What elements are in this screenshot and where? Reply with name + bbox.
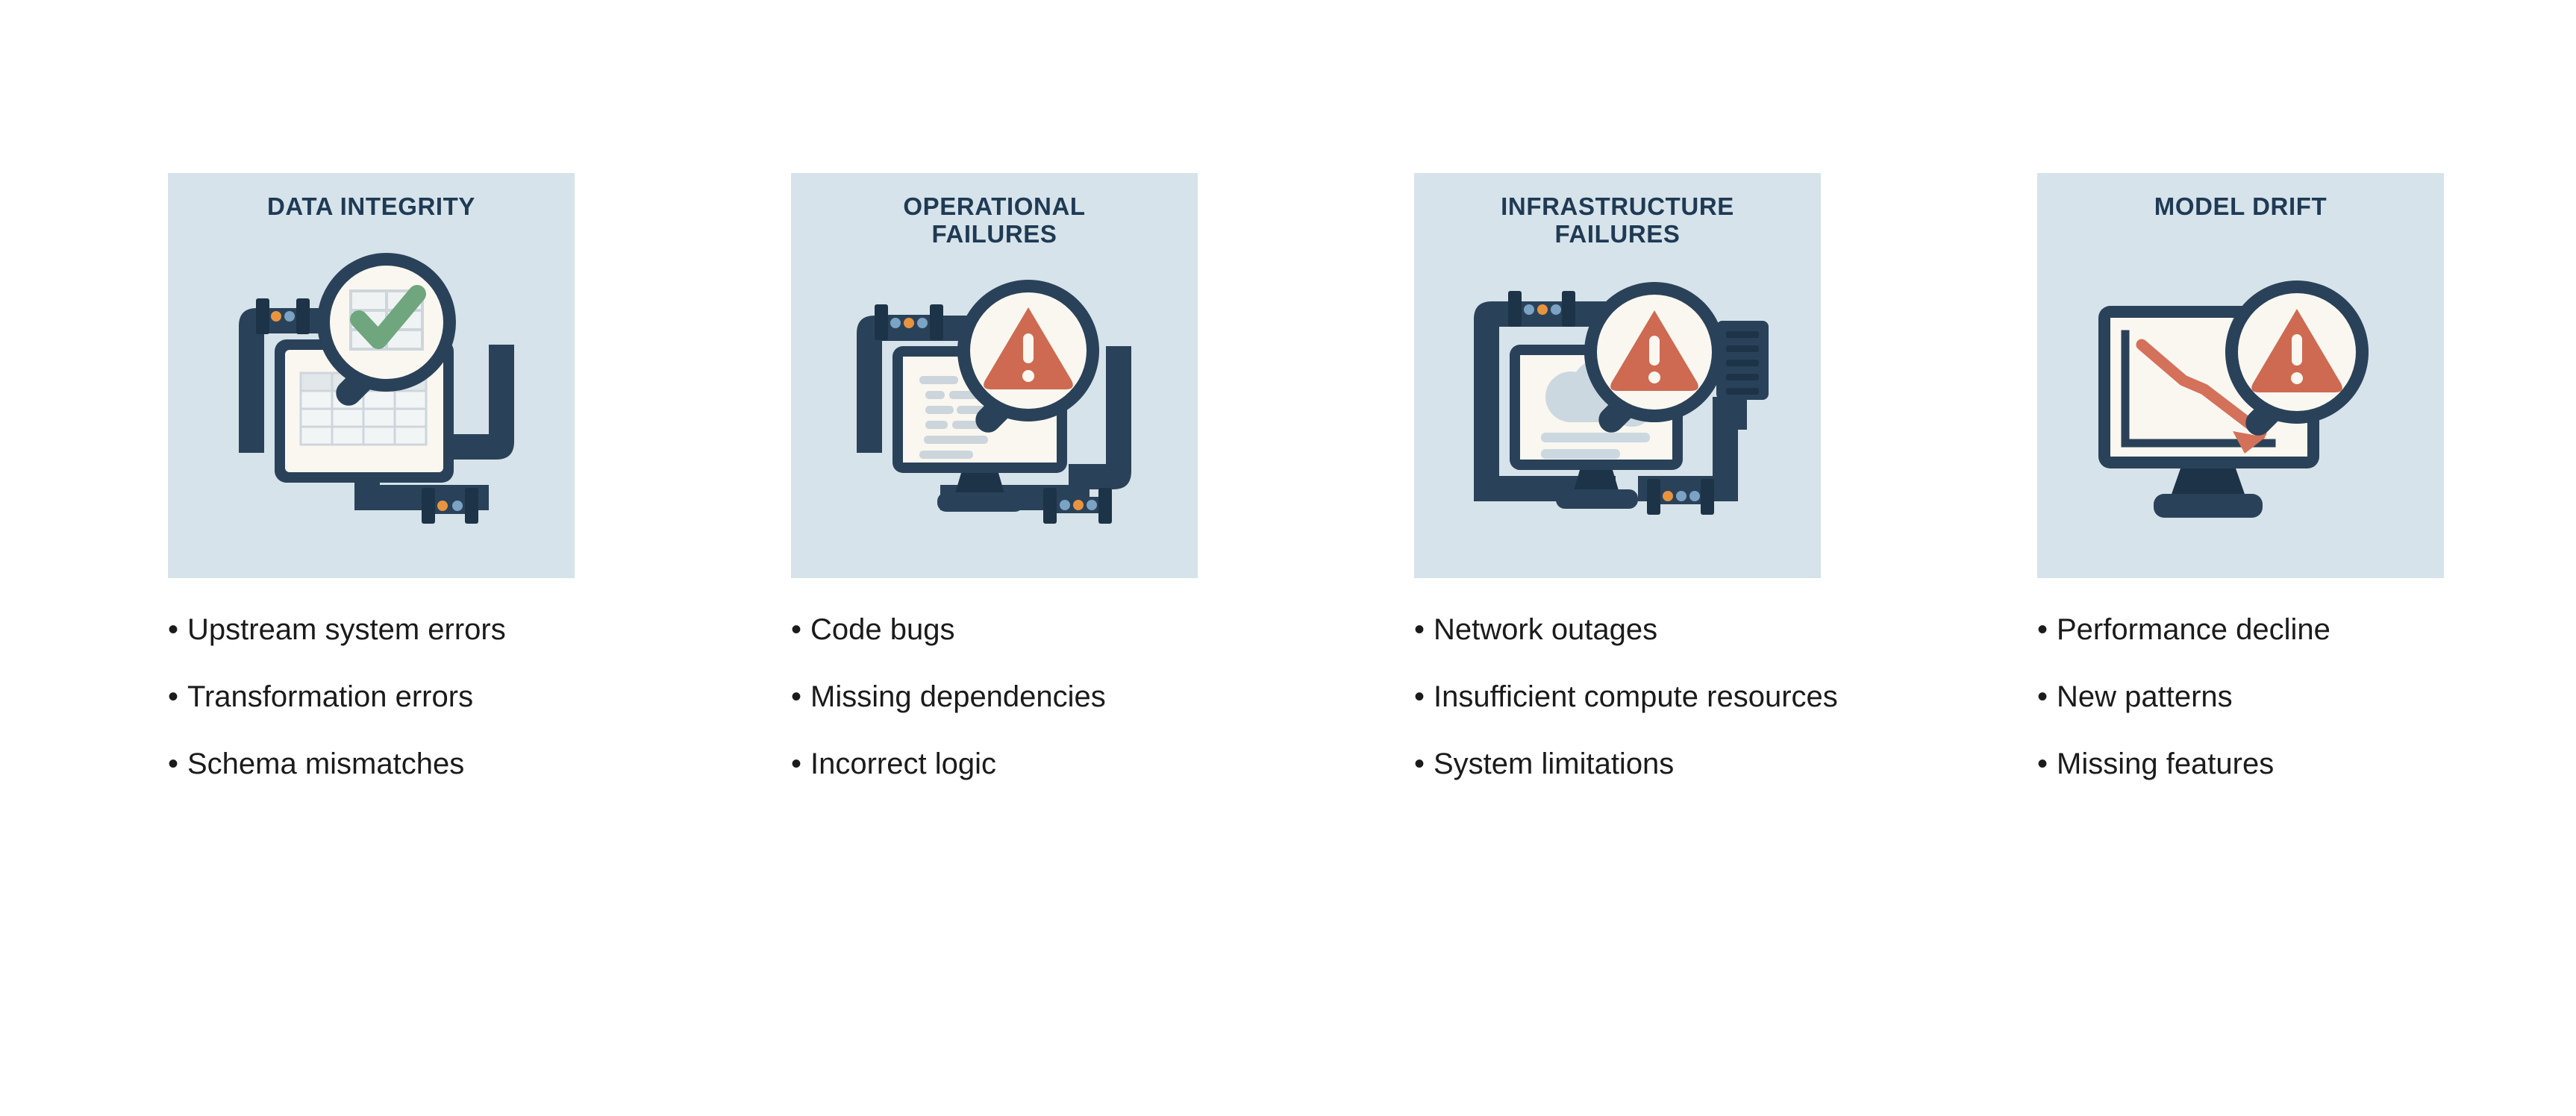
bullet-marker-icon: • <box>1414 749 1434 779</box>
category-column-data-integrity: DATA INTEGRITY • Upstream system errors … <box>168 173 575 794</box>
bullet-marker-icon: • <box>2037 682 2057 712</box>
list-item: • Network outages <box>1414 612 1821 648</box>
magnifier-over-spreadsheet-with-checkmark-icon <box>168 173 575 578</box>
list-item-label: Transformation errors <box>187 679 473 715</box>
bullet-marker-icon: • <box>2037 749 2057 779</box>
list-item: • Missing features <box>2037 746 2444 782</box>
category-column-infrastructure-failures: INFRASTRUCTURE FAILURES • Network outage… <box>1414 173 1821 794</box>
tile-title-model-drift: MODEL DRIFT <box>2037 192 2444 220</box>
bullet-marker-icon: • <box>791 615 810 645</box>
list-item-label: Incorrect logic <box>810 746 996 782</box>
failure-categories-board: DATA INTEGRITY • Upstream system errors … <box>0 0 2576 1116</box>
list-item-label: Performance decline <box>2057 612 2330 648</box>
list-item: • Insufficient compute resources <box>1414 679 1821 715</box>
list-item: • Upstream system errors <box>168 612 575 648</box>
list-item-label: Missing dependencies <box>810 679 1106 715</box>
bullet-marker-icon: • <box>168 682 187 712</box>
list-item-label: Network outages <box>1434 612 1657 648</box>
list-item-label: Code bugs <box>810 612 954 648</box>
bullet-marker-icon: • <box>2037 615 2057 645</box>
bullet-marker-icon: • <box>1414 682 1434 712</box>
list-item: • New patterns <box>2037 679 2444 715</box>
list-item-label: New patterns <box>2057 679 2233 715</box>
list-item: • Transformation errors <box>168 679 575 715</box>
bullet-marker-icon: • <box>791 749 810 779</box>
tile-title-infrastructure-failures: INFRASTRUCTURE FAILURES <box>1414 192 1821 248</box>
list-item-label: Missing features <box>2057 746 2274 782</box>
list-item-label: Upstream system errors <box>187 612 506 648</box>
list-item: • Performance decline <box>2037 612 2444 648</box>
category-columns: DATA INTEGRITY • Upstream system errors … <box>168 173 2451 794</box>
list-item: • Code bugs <box>791 612 1198 648</box>
category-tile-model-drift: MODEL DRIFT <box>2037 173 2444 578</box>
category-tile-infrastructure-failures: INFRASTRUCTURE FAILURES <box>1414 173 1821 578</box>
list-item-label: System limitations <box>1434 746 1674 782</box>
bullet-marker-icon: • <box>168 615 187 645</box>
bullet-marker-icon: • <box>791 682 810 712</box>
tile-title-operational-failures: OPERATIONAL FAILURES <box>791 192 1198 248</box>
magnifier-over-monitor-with-declining-chart-icon <box>2037 173 2444 578</box>
list-item-label: Schema mismatches <box>187 746 464 782</box>
tile-title-data-integrity: DATA INTEGRITY <box>168 192 575 220</box>
list-item: • Missing dependencies <box>791 679 1198 715</box>
bullet-list-model-drift: • Performance decline • New patterns • M… <box>2037 612 2444 782</box>
bullet-list-infrastructure-failures: • Network outages • Insufficient compute… <box>1414 612 1821 782</box>
category-column-operational-failures: OPERATIONAL FAILURES • Code bugs • Missi… <box>791 173 1198 794</box>
list-item: • Schema mismatches <box>168 746 575 782</box>
category-tile-data-integrity: DATA INTEGRITY <box>168 173 575 578</box>
bullet-list-data-integrity: • Upstream system errors • Transformatio… <box>168 612 575 782</box>
list-item: • System limitations <box>1414 746 1821 782</box>
bullet-marker-icon: • <box>1414 615 1434 645</box>
bullet-marker-icon: • <box>168 749 187 779</box>
bullet-list-operational-failures: • Code bugs • Missing dependencies • Inc… <box>791 612 1198 782</box>
list-item-label: Insufficient compute resources <box>1434 679 1838 715</box>
category-tile-operational-failures: OPERATIONAL FAILURES <box>791 173 1198 578</box>
list-item: • Incorrect logic <box>791 746 1198 782</box>
category-column-model-drift: MODEL DRIFT • Performance decline • New … <box>2037 173 2444 794</box>
